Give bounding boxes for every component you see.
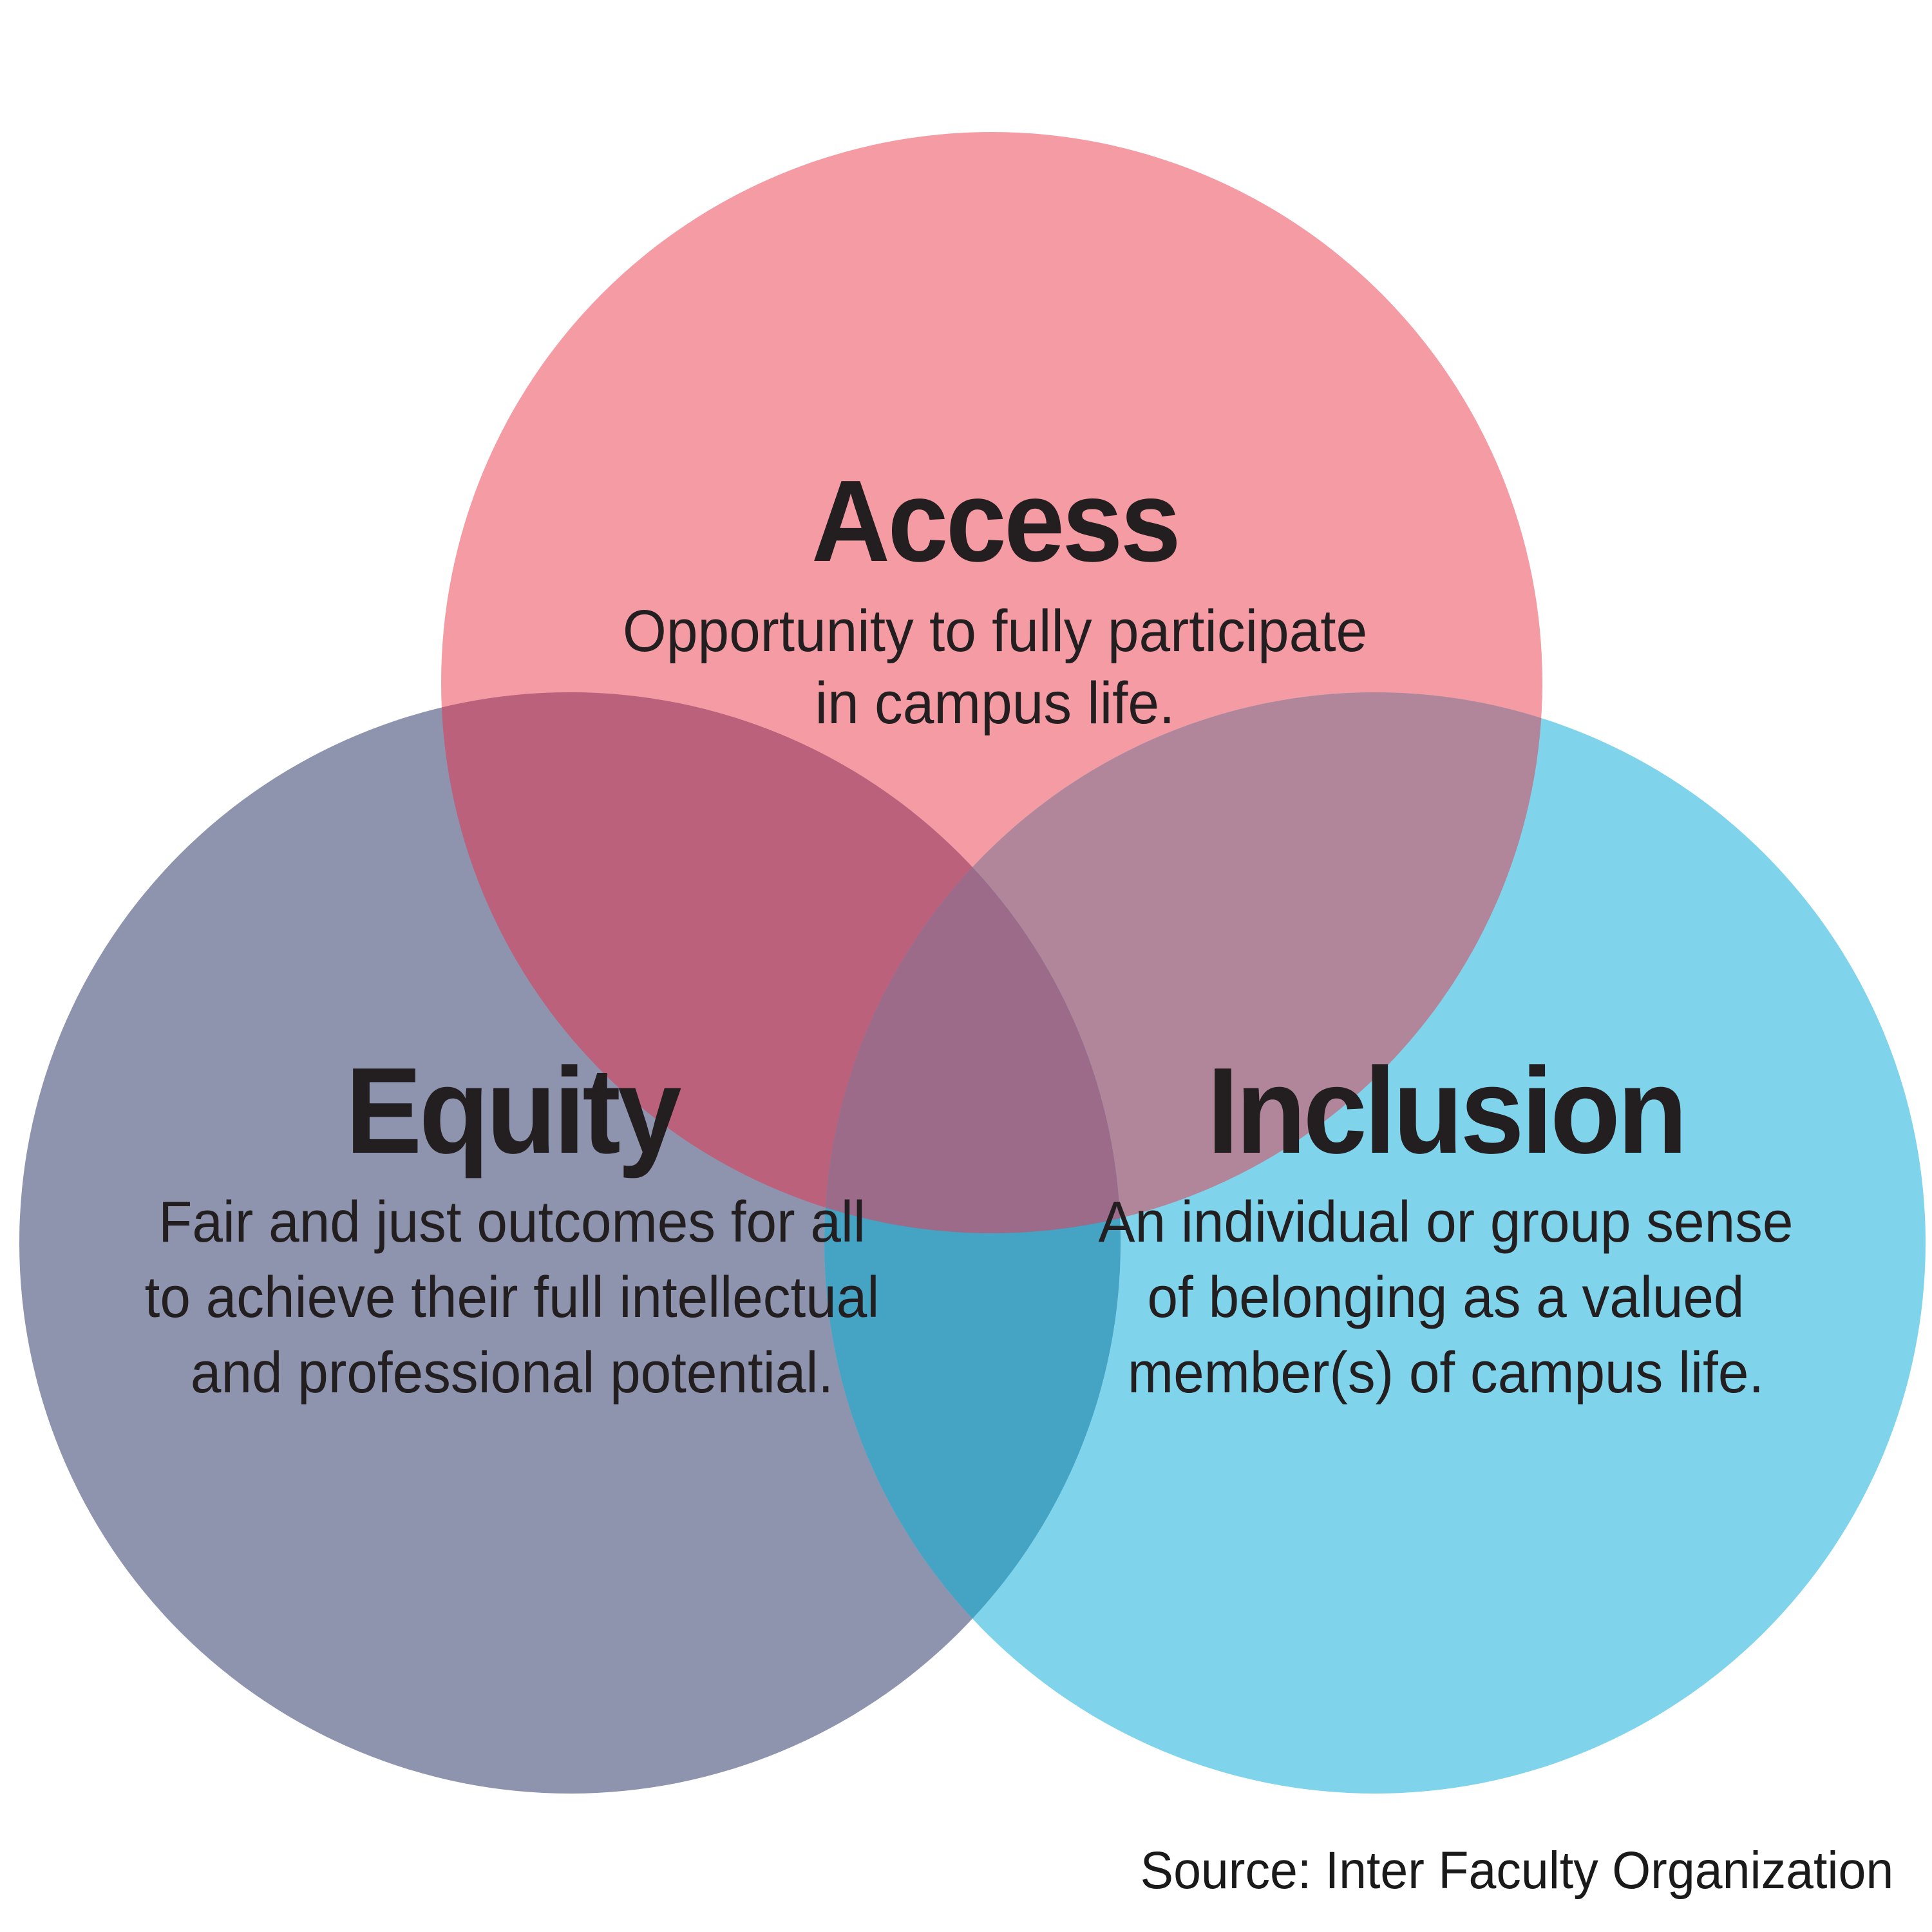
venn-circles-graphic (0, 0, 1932, 1932)
venn-diagram: Access Opportunity to fully participate … (0, 0, 1932, 1932)
